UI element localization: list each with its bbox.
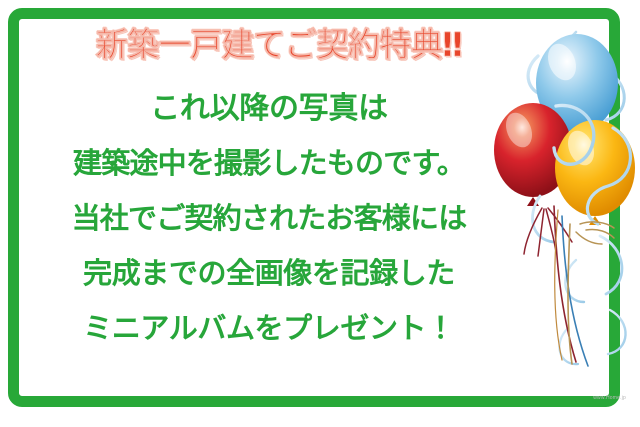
notice-card: 新築一戸建てご契約特典‼ これ以降の写真は 建築途中を撮影したものです。 当社で… (0, 0, 640, 427)
title-container: 新築一戸建てご契約特典‼ (19, 28, 539, 63)
body-line-4: 完成までの全画像を記録した (19, 246, 519, 301)
body-line-3: 当社でご契約されたお客様には (19, 191, 519, 246)
watermark-text: www.Home.jp (593, 395, 626, 401)
body-line-1: これ以降の写真は (19, 81, 519, 136)
body-line-2: 建築途中を撮影したものです。 (19, 136, 519, 191)
body-line-5: ミニアルバムをプレゼント！ (19, 301, 519, 356)
card-content: 新築一戸建てご契約特典‼ これ以降の写真は 建築途中を撮影したものです。 当社で… (19, 19, 621, 408)
body-text-block: これ以降の写真は 建築途中を撮影したものです。 当社でご契約されたお客様には 完… (19, 81, 519, 356)
page-title: 新築一戸建てご契約特典‼ (96, 28, 462, 63)
